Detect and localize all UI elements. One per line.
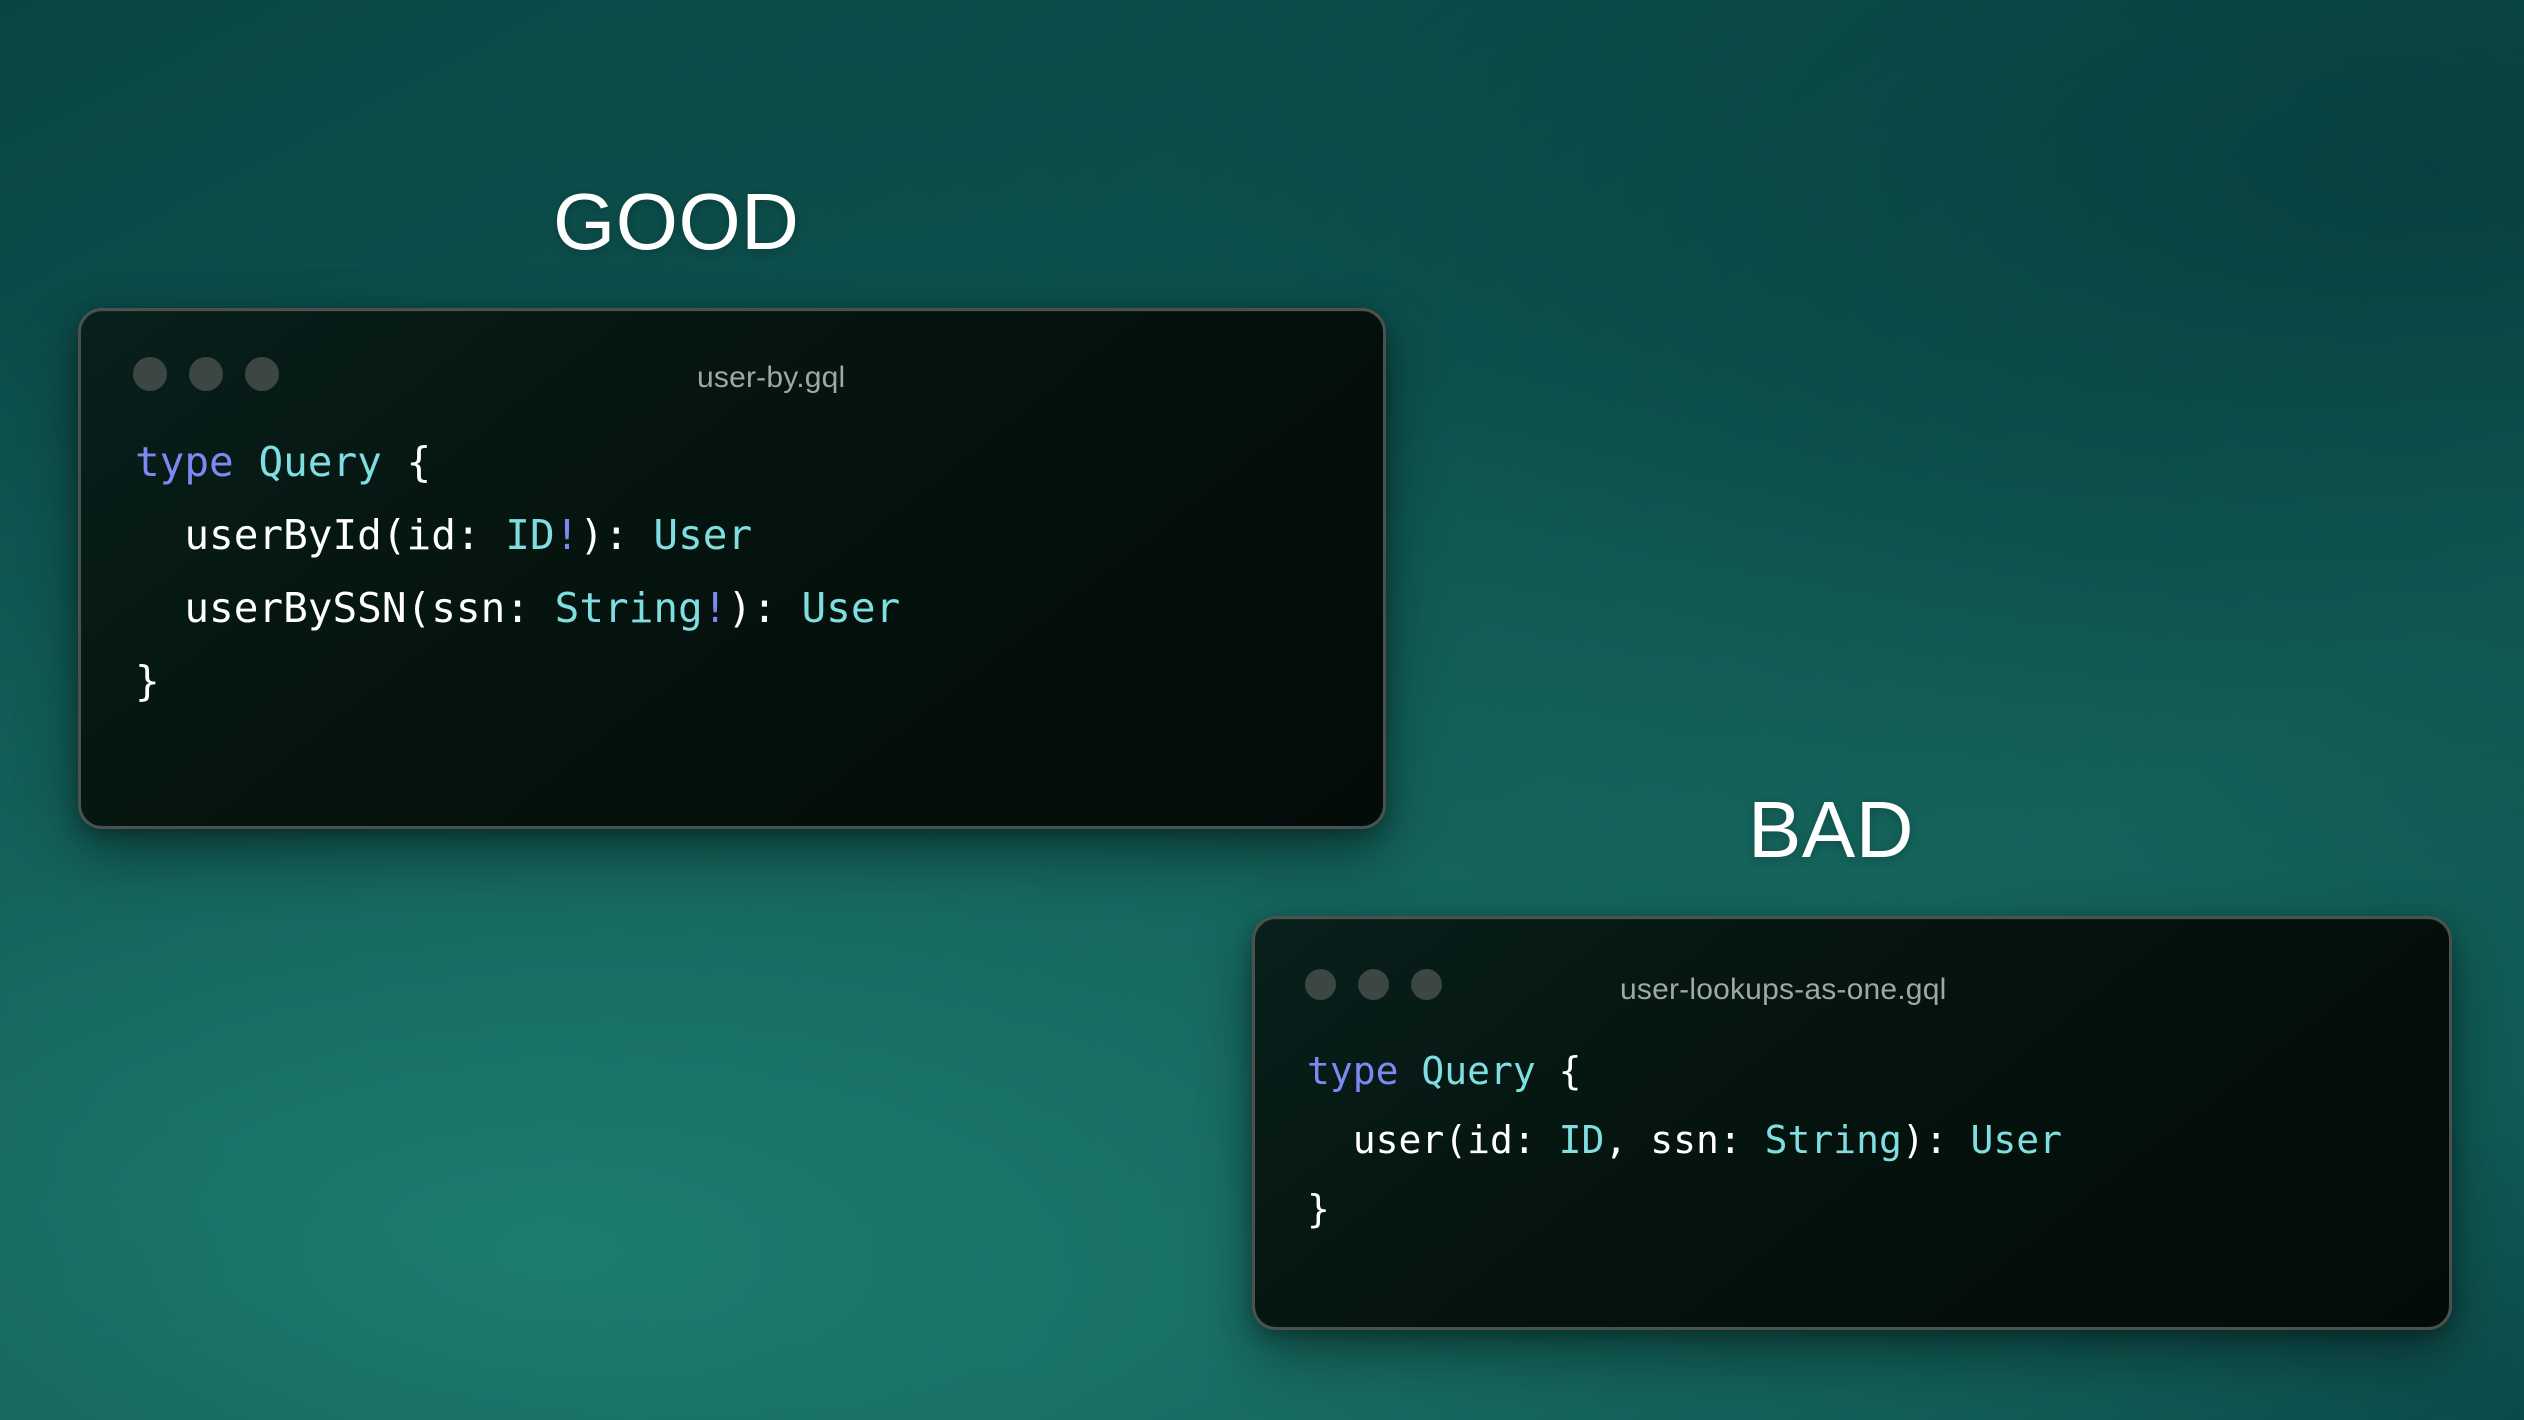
code-token-plain: ):	[579, 511, 653, 559]
traffic-lights-bad	[1305, 969, 1442, 1000]
code-token-type: User	[1971, 1118, 2063, 1162]
code-token-type: ID	[1559, 1118, 1605, 1162]
code-token-type: User	[653, 511, 752, 559]
code-line: }	[135, 645, 1383, 718]
code-token-plain: }	[1307, 1187, 1330, 1231]
code-line: user(id: ID, ssn: String): User	[1307, 1106, 2449, 1175]
code-token-type: String	[1765, 1118, 1902, 1162]
code-token-type: String	[555, 584, 703, 632]
code-line: type Query {	[1307, 1037, 2449, 1106]
code-token-keyword: type	[1307, 1049, 1399, 1093]
titlebar-good: user-by.gql	[81, 311, 1383, 407]
code-token-type: ID	[505, 511, 554, 559]
code-token-plain: userById(id:	[135, 511, 505, 559]
code-token-plain	[234, 438, 259, 486]
code-token-plain: {	[382, 438, 431, 486]
code-window-good: user-by.gql type Query { userById(id: ID…	[78, 308, 1386, 829]
code-line: userBySSN(ssn: String!): User	[135, 572, 1383, 645]
code-line: }	[1307, 1175, 2449, 1244]
minimize-dot-icon[interactable]	[1358, 969, 1389, 1000]
code-token-type: Query	[1421, 1049, 1535, 1093]
code-block-good: type Query { userById(id: ID!): User use…	[81, 407, 1383, 718]
code-window-bad: user-lookups-as-one.gql type Query { use…	[1252, 916, 2452, 1330]
maximize-dot-icon[interactable]	[1411, 969, 1442, 1000]
code-token-plain: }	[135, 657, 160, 705]
code-token-plain: {	[1536, 1049, 1582, 1093]
code-token-type: User	[802, 584, 901, 632]
code-line: userById(id: ID!): User	[135, 499, 1383, 572]
label-good: GOOD	[553, 182, 799, 262]
code-token-bang: !	[703, 584, 728, 632]
code-token-plain: ):	[727, 584, 801, 632]
code-token-plain: ):	[1902, 1118, 1971, 1162]
close-dot-icon[interactable]	[1305, 969, 1336, 1000]
code-line: type Query {	[135, 426, 1383, 499]
minimize-dot-icon[interactable]	[189, 357, 223, 391]
code-block-bad: type Query { user(id: ID, ssn: String): …	[1255, 1015, 2449, 1244]
maximize-dot-icon[interactable]	[245, 357, 279, 391]
code-token-type: Query	[258, 438, 381, 486]
code-token-plain: user(id:	[1307, 1118, 1559, 1162]
traffic-lights-good	[133, 357, 279, 391]
code-token-keyword: type	[135, 438, 234, 486]
window-title-bad: user-lookups-as-one.gql	[1620, 973, 1946, 1007]
code-token-plain: userBySSN(ssn:	[135, 584, 555, 632]
code-token-plain	[1399, 1049, 1422, 1093]
titlebar-bad: user-lookups-as-one.gql	[1255, 919, 2449, 1015]
code-token-plain: , ssn:	[1604, 1118, 1764, 1162]
label-bad: BAD	[1748, 790, 1914, 870]
window-title-good: user-by.gql	[697, 361, 845, 395]
close-dot-icon[interactable]	[133, 357, 167, 391]
code-token-bang: !	[555, 511, 580, 559]
